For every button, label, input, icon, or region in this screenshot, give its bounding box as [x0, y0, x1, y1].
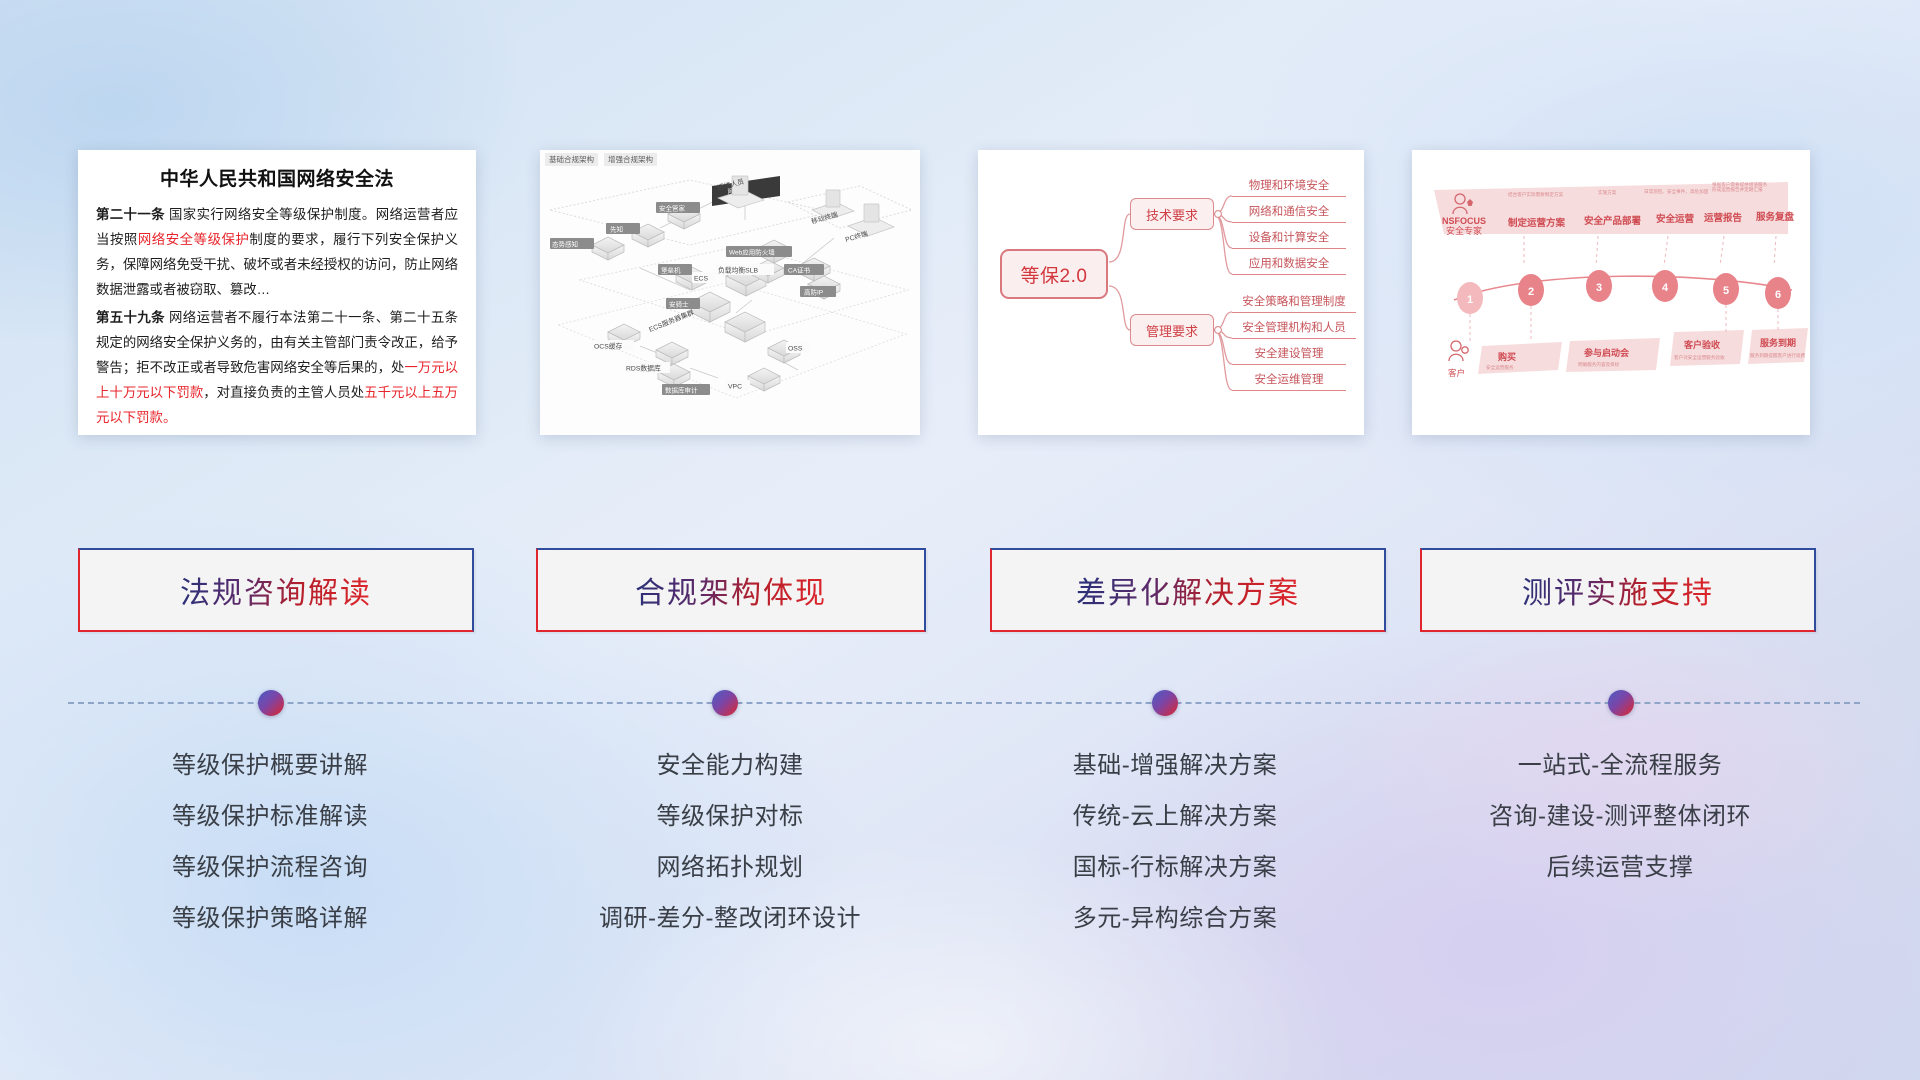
detail-list-row: 等级保护概要讲解 等级保护标准解读 等级保护流程咨询 等级保护策略详解 安全能力… — [0, 740, 1920, 980]
list-item: 等级保护对标 — [530, 791, 930, 842]
list-item: 等级保护策略详解 — [70, 893, 470, 944]
mindmap-leaf-mgmt-1: 安全策略和管理制度 — [1232, 292, 1356, 313]
law-article-21-highlight: 网络安全等级保护 — [138, 232, 250, 247]
timeline-dashed-line — [68, 702, 1860, 704]
mindmap-leaf-tech-4: 应用和数据安全 — [1232, 254, 1346, 275]
list-item: 网络拓扑规划 — [530, 842, 930, 893]
svg-text:RDS数据库: RDS数据库 — [626, 364, 661, 373]
architecture-diagram: 基础合规架构 增强合规架构 — [540, 150, 920, 435]
svg-text:参与启动会: 参与启动会 — [1584, 347, 1630, 358]
svg-text:1: 1 — [1467, 294, 1473, 306]
svg-text:3: 3 — [1596, 282, 1602, 294]
headline-text-3: 差异化解决方案 — [1076, 568, 1300, 612]
timeline-dot-3[interactable] — [1152, 690, 1178, 716]
mindmap-leaf-tech-2: 网络和通信安全 — [1232, 202, 1346, 223]
timeline-dot-4[interactable] — [1608, 690, 1634, 716]
svg-text:CA证书: CA证书 — [788, 266, 811, 275]
list-item: 安全能力构建 — [530, 740, 930, 791]
headline-box-regulation-consulting[interactable]: 法规咨询解读 — [78, 548, 474, 632]
svg-text:6: 6 — [1775, 289, 1781, 301]
svg-text:安全产品部署: 安全产品部署 — [1584, 215, 1642, 227]
svg-text:服务复盘: 服务复盘 — [1756, 211, 1795, 223]
list-item: 后续运营支撑 — [1410, 842, 1830, 893]
svg-text:4: 4 — [1662, 282, 1669, 294]
law-title: 中华人民共和国网络安全法 — [96, 164, 458, 191]
svg-text:日常巡检、安全事件、高危加固: 日常巡检、安全事件、高危加固 — [1644, 188, 1709, 195]
headline-text-4: 测评实施支持 — [1522, 568, 1714, 612]
svg-text:PC终端: PC终端 — [844, 229, 869, 244]
list-item: 国标-行标解决方案 — [960, 842, 1390, 893]
nsfocus-brand-sub-text: 安全专家 — [1446, 225, 1482, 236]
svg-text:OCS缓存: OCS缓存 — [594, 342, 623, 351]
svg-text:服务到期提醒客户进行续费: 服务到期提醒客户进行续费 — [1750, 352, 1806, 359]
timeline-dot-2[interactable] — [712, 690, 738, 716]
svg-text:根据客户需要提供增值服务: 根据客户需要提供增值服务 — [1712, 181, 1768, 188]
svg-text:先知: 先知 — [610, 225, 623, 234]
headline-box-differentiated-solution[interactable]: 差异化解决方案 — [990, 548, 1386, 632]
headline-box-compliance-architecture[interactable]: 合规架构体现 — [536, 548, 926, 632]
detail-list-column-1: 等级保护概要讲解 等级保护标准解读 等级保护流程咨询 等级保护策略详解 — [70, 740, 470, 944]
svg-text:运营报告: 运营报告 — [1704, 212, 1743, 224]
svg-text:ECS: ECS — [694, 276, 708, 283]
svg-text:ECS服务器集群: ECS服务器集群 — [647, 307, 695, 333]
nsfocus-svg: NSFOCUS 安全专家 结合客户实际需要制定方案 实施方案 日常巡检、安全事件… — [1412, 150, 1810, 435]
svg-text:购买: 购买 — [1498, 351, 1516, 362]
timeline-track — [0, 690, 1920, 716]
list-item: 等级保护标准解读 — [70, 791, 470, 842]
svg-text:实施方案: 实施方案 — [1598, 189, 1617, 196]
svg-text:客户对安全运营服务验收: 客户对安全运营服务验收 — [1674, 354, 1725, 361]
headline-text-1: 法规咨询解读 — [180, 568, 372, 612]
svg-text:VPC: VPC — [728, 384, 742, 391]
svg-text:形成运营报告并定期汇报: 形成运营报告并定期汇报 — [1712, 186, 1763, 193]
svg-text:Web应用防火墙: Web应用防火墙 — [729, 248, 775, 257]
list-item: 咨询-建设-测评整体闭环 — [1410, 791, 1830, 842]
svg-text:制定运营方案: 制定运营方案 — [1508, 217, 1566, 229]
architecture-svg: 阿里云 — [540, 150, 920, 435]
nsfocus-diagram: NSFOCUS 安全专家 结合客户实际需要制定方案 实施方案 日常巡检、安全事件… — [1412, 150, 1810, 435]
mindmap-diagram: 等保2.0 技术要求 管理要求 物理和环境安全 网络和通信安全 设备和计算安全 … — [978, 150, 1364, 435]
svg-text:2: 2 — [1528, 286, 1534, 298]
svg-text:OSS: OSS — [788, 346, 803, 353]
svg-text:5: 5 — [1723, 285, 1729, 297]
card-nsfocus-timeline[interactable]: NSFOCUS 安全专家 结合客户实际需要制定方案 实施方案 日常巡检、安全事件… — [1412, 150, 1810, 435]
mindmap-leaf-mgmt-3: 安全建设管理 — [1232, 344, 1346, 365]
mindmap-leaf-tech-1: 物理和环境安全 — [1232, 176, 1346, 197]
list-item: 传统-云上解决方案 — [960, 791, 1390, 842]
mindmap-root: 等保2.0 — [1000, 249, 1108, 299]
card-cybersecurity-law[interactable]: 中华人民共和国网络安全法 第二十一条 国家实行网络安全等级保护制度。网络运营者应… — [78, 150, 476, 435]
svg-text:安骑士: 安骑士 — [669, 300, 689, 309]
svg-text:客户验收: 客户验收 — [1683, 339, 1720, 350]
mindmap-branch-technical: 技术要求 — [1130, 198, 1214, 230]
headline-box-evaluation-support[interactable]: 测评实施支持 — [1420, 548, 1816, 632]
nsfocus-customer-text: 客户 — [1448, 368, 1465, 378]
law-article-21-label: 第二十一条 — [96, 207, 165, 222]
headline-text-2: 合规架构体现 — [635, 568, 827, 612]
headline-row: 法规咨询解读 合规架构体现 差异化解决方案 测评实施支持 — [0, 548, 1920, 638]
image-card-row: 中华人民共和国网络安全法 第二十一条 国家实行网络安全等级保护制度。网络运营者应… — [0, 150, 1920, 450]
law-article-21: 第二十一条 国家实行网络安全等级保护制度。网络运营者应当按照网络安全等级保护制度… — [96, 202, 458, 302]
mindmap-branch-management: 管理要求 — [1130, 314, 1214, 346]
card-mindmap-dengbao[interactable]: 等保2.0 技术要求 管理要求 物理和环境安全 网络和通信安全 设备和计算安全 … — [978, 150, 1364, 435]
svg-text:态势感知: 态势感知 — [552, 240, 578, 249]
svg-text:安全管家: 安全管家 — [659, 204, 686, 213]
list-item: 多元-异构综合方案 — [960, 893, 1390, 944]
detail-list-column-4: 一站式-全流程服务 咨询-建设-测评整体闭环 后续运营支撑 — [1410, 740, 1830, 893]
nsfocus-brand-text: NSFOCUS — [1442, 216, 1486, 226]
detail-list-column-3: 基础-增强解决方案 传统-云上解决方案 国标-行标解决方案 多元-异构综合方案 — [960, 740, 1390, 944]
svg-text:数据库审计: 数据库审计 — [665, 386, 698, 395]
svg-text:安全运营服务: 安全运营服务 — [1486, 364, 1514, 371]
mindmap-leaf-mgmt-2: 安全管理机构和人员 — [1232, 318, 1356, 339]
list-item: 等级保护概要讲解 — [70, 740, 470, 791]
list-item: 等级保护流程咨询 — [70, 842, 470, 893]
svg-text:堡垒机: 堡垒机 — [661, 266, 681, 275]
law-article-59-label: 第五十九条 — [96, 310, 165, 325]
timeline-dot-1[interactable] — [258, 690, 284, 716]
mindmap-leaf-tech-3: 设备和计算安全 — [1232, 228, 1346, 249]
list-item: 一站式-全流程服务 — [1410, 740, 1830, 791]
svg-text:高防IP: 高防IP — [804, 288, 823, 297]
detail-list-column-2: 安全能力构建 等级保护对标 网络拓扑规划 调研-差分-整改闭环设计 — [530, 740, 930, 944]
mindmap-leaf-mgmt-4: 安全运维管理 — [1232, 370, 1346, 391]
card-compliance-architecture[interactable]: 基础合规架构 增强合规架构 — [540, 150, 920, 435]
law-article-59: 第五十九条 网络运营者不履行本法第二十一条、第二十五条规定的网络安全保护义务的，… — [96, 305, 458, 430]
list-item: 基础-增强解决方案 — [960, 740, 1390, 791]
svg-text:负载均衡SLB: 负载均衡SLB — [718, 266, 759, 275]
svg-text:安全运营: 安全运营 — [1656, 213, 1695, 225]
law-article-59-text-b: ，对直接负责的主管人员处 — [203, 385, 364, 400]
svg-text:结合客户实际需要制定方案: 结合客户实际需要制定方案 — [1508, 191, 1564, 198]
list-item: 调研-差分-整改闭环设计 — [530, 893, 930, 944]
law-document: 中华人民共和国网络安全法 第二十一条 国家实行网络安全等级保护制度。网络运营者应… — [78, 150, 476, 435]
svg-text:明确服务内容及目标: 明确服务内容及目标 — [1578, 361, 1620, 368]
svg-text:服务到期: 服务到期 — [1760, 337, 1796, 348]
